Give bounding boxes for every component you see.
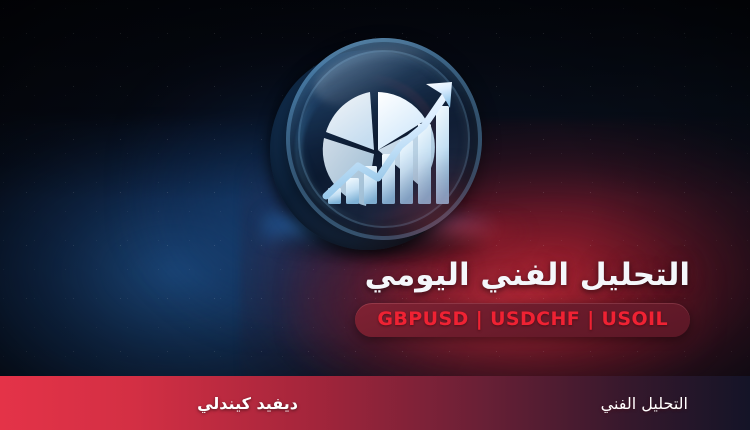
- headline-block: التحليل الفني اليومي GBPUSD | USDCHF | U…: [355, 258, 690, 337]
- currency-pairs-badge: GBPUSD | USDCHF | USOIL: [355, 303, 690, 337]
- coin-front-face: [286, 38, 482, 240]
- footer-bar: التحليل الفني ديفيد كيندلي: [0, 376, 750, 430]
- promo-banner: التحليل الفني اليومي GBPUSD | USDCHF | U…: [0, 0, 750, 430]
- footer-category-label: التحليل الفني: [601, 394, 688, 413]
- footer-author-label: ديفيد كيندلي: [197, 394, 298, 413]
- analytics-coin-icon: [268, 34, 494, 270]
- page-title: التحليل الفني اليومي: [355, 258, 690, 294]
- chart-artwork: [300, 54, 468, 224]
